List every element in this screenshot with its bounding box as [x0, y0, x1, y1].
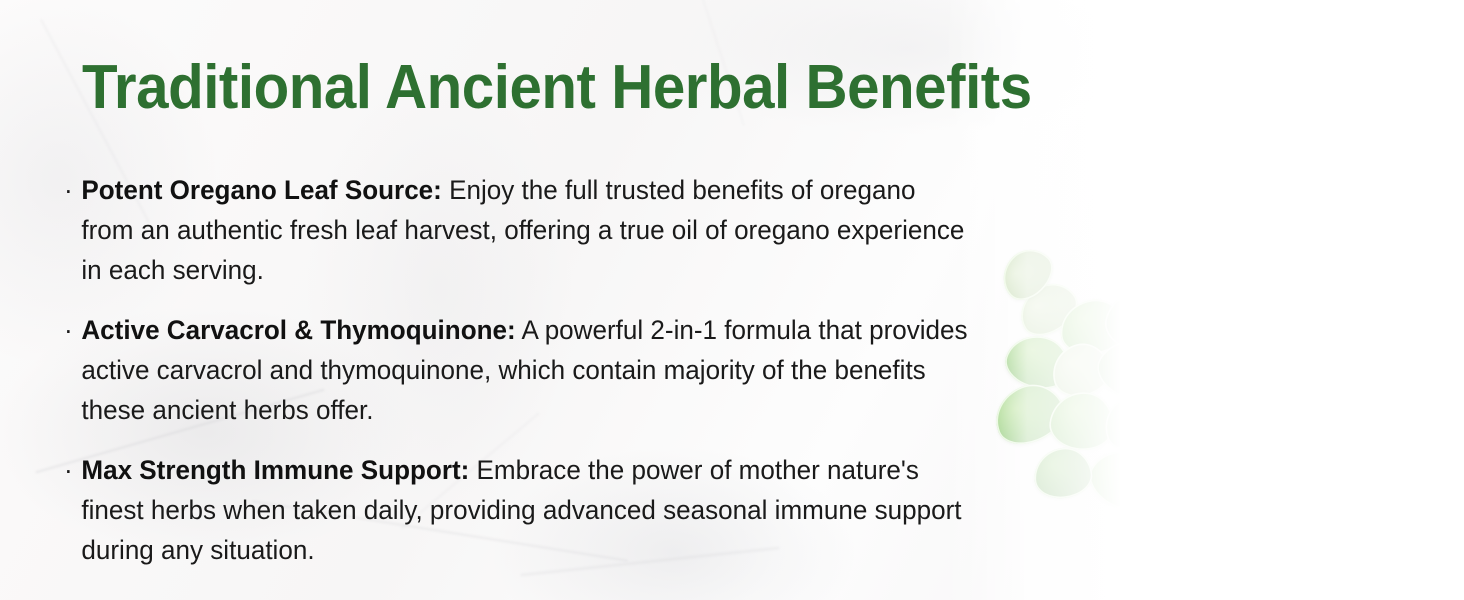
- herbal-benefits-banner: Traditional Ancient Herbal Benefits ·Pot…: [0, 0, 1464, 600]
- oregano-leaf: [1032, 445, 1095, 501]
- oregano-product-photo: [994, 0, 1464, 600]
- text-column: Traditional Ancient Herbal Benefits ·Pot…: [0, 0, 1010, 600]
- benefit-item: ·Potent Oregano Leaf Source: Enjoy the f…: [64, 170, 971, 290]
- bullet-marker-icon: ·: [64, 170, 73, 210]
- bullet-marker-icon: ·: [64, 450, 73, 490]
- page-title: Traditional Ancient Herbal Benefits: [82, 55, 1032, 120]
- benefit-item: ·Max Strength Immune Support: Embrace th…: [64, 450, 971, 570]
- scattered-dried-oregano-icon: [1264, 480, 1464, 576]
- benefit-lead: Potent Oregano Leaf Source:: [81, 175, 441, 205]
- benefit-item: ·Active Carvacrol & Thymoquinone: A powe…: [64, 310, 971, 430]
- bullet-marker-icon: ·: [64, 310, 73, 350]
- benefit-lead: Active Carvacrol & Thymoquinone:: [81, 315, 515, 345]
- benefits-list: ·Potent Oregano Leaf Source: Enjoy the f…: [64, 170, 1004, 570]
- benefit-lead: Max Strength Immune Support:: [81, 455, 469, 485]
